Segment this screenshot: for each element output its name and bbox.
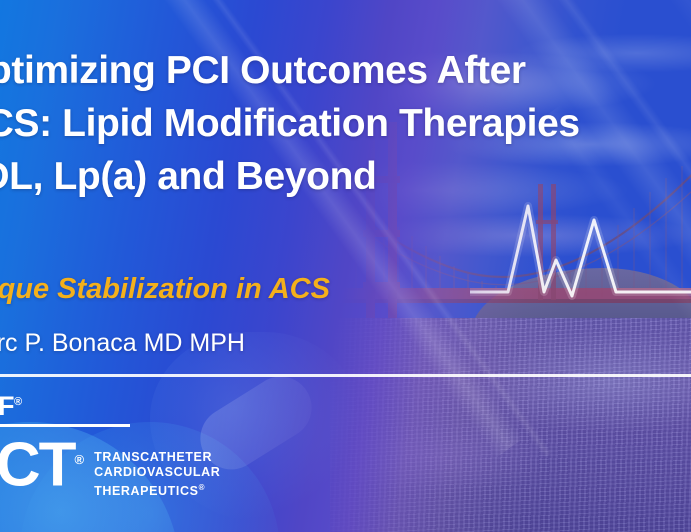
slide-subtitle: Plaque Stabilization in ACS — [0, 272, 691, 306]
tct-logo-text: TCT — [0, 431, 75, 500]
slide-content: Optimizing PCI Outcomes After ACS: Lipid… — [0, 0, 691, 532]
tct-full-name-line-2: CARDIOVASCULAR — [94, 465, 220, 480]
crf-registered-icon: ® — [14, 396, 22, 408]
tct-logo: TCT® — [0, 430, 84, 496]
slide-title: Optimizing PCI Outcomes After ACS: Lipid… — [0, 44, 691, 203]
title-line-2: ACS: Lipid Modification Therapies — [0, 97, 691, 150]
horizontal-divider — [0, 374, 691, 377]
crf-logo-text: CRF — [0, 391, 14, 421]
tct-full-name-line-3: THERAPEUTICS — [94, 484, 198, 498]
crf-logo: CRF® — [0, 388, 290, 420]
title-line-1: Optimizing PCI Outcomes After — [0, 44, 691, 97]
tct-full-name: TRANSCATHETER CARDIOVASCULAR THERAPEUTIC… — [94, 450, 220, 499]
tct-full-name-line-3-wrap: THERAPEUTICS® — [94, 480, 220, 499]
presentation-slide: Optimizing PCI Outcomes After ACS: Lipid… — [0, 0, 691, 532]
tct-name-registered-icon: ® — [199, 483, 206, 492]
speaker-name: Marc P. Bonaca MD MPH — [0, 328, 691, 358]
title-line-3: LDL, Lp(a) and Beyond — [0, 150, 691, 203]
tct-registered-icon: ® — [75, 452, 85, 467]
tct-logo-lockup: CRF® TCT® TRANSCATHETER CARDIOVASCULAR T… — [0, 388, 290, 499]
logo-rule — [0, 424, 130, 427]
tct-full-name-line-1: TRANSCATHETER — [94, 450, 220, 465]
